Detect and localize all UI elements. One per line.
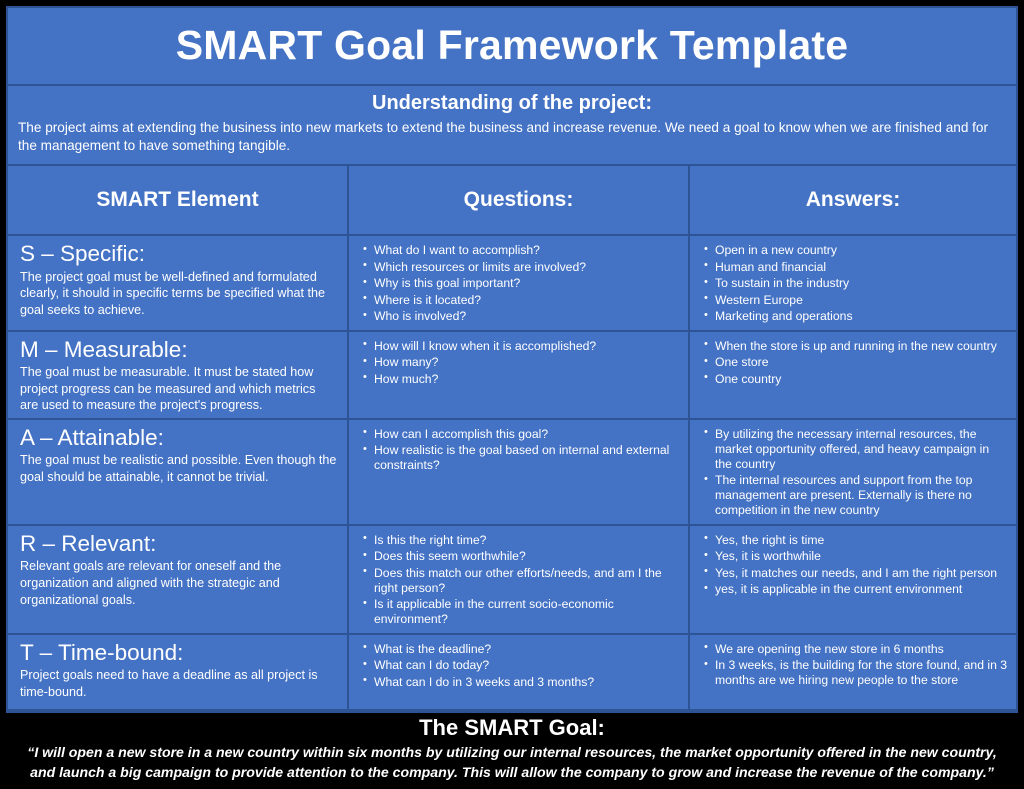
list-item: By utilizing the necessary internal reso… xyxy=(704,427,1008,472)
list-item: To sustain in the industry xyxy=(704,276,1008,291)
title-band: SMART Goal Framework Template xyxy=(8,8,1016,86)
list-item: How will I know when it is accomplished? xyxy=(363,339,680,354)
table-header-row: SMART Element Questions: Answers: xyxy=(8,166,1016,236)
list-item: Open in a new country xyxy=(704,243,1008,258)
understanding-title: Understanding of the project: xyxy=(18,91,1006,116)
list-item: One store xyxy=(704,355,1008,370)
answers-list-relevant: Yes, the right is timeYes, it is worthwh… xyxy=(690,526,1016,603)
element-heading-attainable: A – Attainable: xyxy=(20,425,337,452)
list-item: Yes, the right is time xyxy=(704,533,1008,548)
smart-goal-text: “I will open a new store in a new countr… xyxy=(17,743,1007,782)
understanding-body: The project aims at extending the busine… xyxy=(18,119,1006,156)
list-item: Yes, it is worthwhile xyxy=(704,549,1008,564)
answers-list-specific: Open in a new countryHuman and financial… xyxy=(690,236,1016,330)
element-description-timebound: Project goals need to have a deadline as… xyxy=(20,667,337,700)
questions-cell-attainable: How can I accomplish this goal?How reali… xyxy=(349,420,690,524)
column-header-element-label: SMART Element xyxy=(96,188,258,212)
table-row-measurable: M – Measurable: The goal must be measura… xyxy=(8,332,1016,420)
questions-cell-relevant: Is this the right time?Does this seem wo… xyxy=(349,526,690,633)
list-item: Where is it located? xyxy=(363,293,680,308)
column-header-answers-label: Answers: xyxy=(806,188,901,212)
list-item: We are opening the new store in 6 months xyxy=(704,642,1008,657)
element-description-attainable: The goal must be realistic and possible.… xyxy=(20,452,337,485)
element-heading-measurable: M – Measurable: xyxy=(20,337,337,364)
answers-cell-timebound: We are opening the new store in 6 months… xyxy=(690,635,1016,709)
questions-list-timebound: What is the deadline?What can I do today… xyxy=(349,635,688,696)
list-item: What do I want to accomplish? xyxy=(363,243,680,258)
list-item: Does this seem worthwhile? xyxy=(363,549,680,564)
answers-cell-relevant: Yes, the right is timeYes, it is worthwh… xyxy=(690,526,1016,633)
list-item: How realistic is the goal based on inter… xyxy=(363,443,680,473)
column-header-answers: Answers: xyxy=(690,166,1016,234)
table-row-relevant: R – Relevant: Relevant goals are relevan… xyxy=(8,526,1016,635)
questions-cell-specific: What do I want to accomplish?Which resou… xyxy=(349,236,690,330)
column-header-questions-label: Questions: xyxy=(464,188,574,212)
list-item: Who is involved? xyxy=(363,309,680,324)
element-cell-specific: S – Specific: The project goal must be w… xyxy=(8,236,349,330)
smart-table: SMART Element Questions: Answers: S – Sp… xyxy=(8,166,1016,709)
list-item: Western Europe xyxy=(704,293,1008,308)
list-item: In 3 weeks, is the building for the stor… xyxy=(704,658,1008,688)
list-item: How much? xyxy=(363,372,680,387)
answers-list-attainable: By utilizing the necessary internal reso… xyxy=(690,420,1016,524)
list-item: What can I do today? xyxy=(363,658,680,673)
answers-cell-measurable: When the store is up and running in the … xyxy=(690,332,1016,418)
answers-cell-specific: Open in a new countryHuman and financial… xyxy=(690,236,1016,330)
list-item: One country xyxy=(704,372,1008,387)
list-item: When the store is up and running in the … xyxy=(704,339,1008,354)
list-item: How many? xyxy=(363,355,680,370)
questions-list-attainable: How can I accomplish this goal?How reali… xyxy=(349,420,688,479)
list-item: Does this match our other efforts/needs,… xyxy=(363,566,680,596)
questions-cell-timebound: What is the deadline?What can I do today… xyxy=(349,635,690,709)
answers-list-measurable: When the store is up and running in the … xyxy=(690,332,1016,393)
table-row-attainable: A – Attainable: The goal must be realist… xyxy=(8,420,1016,526)
table-row-timebound: T – Time-bound: Project goals need to ha… xyxy=(8,635,1016,709)
list-item: The internal resources and support from … xyxy=(704,473,1008,518)
list-item: Marketing and operations xyxy=(704,309,1008,324)
element-heading-timebound: T – Time-bound: xyxy=(20,640,337,667)
element-cell-attainable: A – Attainable: The goal must be realist… xyxy=(8,420,349,524)
table-row-specific: S – Specific: The project goal must be w… xyxy=(8,236,1016,332)
element-cell-relevant: R – Relevant: Relevant goals are relevan… xyxy=(8,526,349,633)
questions-cell-measurable: How will I know when it is accomplished?… xyxy=(349,332,690,418)
smart-goal-section: The SMART Goal: “I will open a new store… xyxy=(8,709,1016,789)
list-item: Is this the right time? xyxy=(363,533,680,548)
element-cell-timebound: T – Time-bound: Project goals need to ha… xyxy=(8,635,349,709)
list-item: Which resources or limits are involved? xyxy=(363,260,680,275)
element-description-specific: The project goal must be well-defined an… xyxy=(20,269,337,319)
answers-cell-attainable: By utilizing the necessary internal reso… xyxy=(690,420,1016,524)
template-frame: SMART Goal Framework Template Understand… xyxy=(6,6,1018,713)
list-item: Why is this goal important? xyxy=(363,276,680,291)
list-item: What can I do in 3 weeks and 3 months? xyxy=(363,675,680,690)
understanding-section: Understanding of the project: The projec… xyxy=(8,86,1016,166)
list-item: Is it applicable in the current socio-ec… xyxy=(363,597,680,627)
column-header-element: SMART Element xyxy=(8,166,349,234)
answers-list-timebound: We are opening the new store in 6 months… xyxy=(690,635,1016,694)
questions-list-relevant: Is this the right time?Does this seem wo… xyxy=(349,526,688,633)
element-heading-specific: S – Specific: xyxy=(20,241,337,268)
list-item: Yes, it matches our needs, and I am the … xyxy=(704,566,1008,581)
column-header-questions: Questions: xyxy=(349,166,690,234)
list-item: What is the deadline? xyxy=(363,642,680,657)
questions-list-specific: What do I want to accomplish?Which resou… xyxy=(349,236,688,330)
element-description-relevant: Relevant goals are relevant for oneself … xyxy=(20,558,337,608)
list-item: How can I accomplish this goal? xyxy=(363,427,680,442)
list-item: Human and financial xyxy=(704,260,1008,275)
element-description-measurable: The goal must be measurable. It must be … xyxy=(20,364,337,414)
questions-list-measurable: How will I know when it is accomplished?… xyxy=(349,332,688,393)
page-title: SMART Goal Framework Template xyxy=(176,24,849,67)
element-heading-relevant: R – Relevant: xyxy=(20,531,337,558)
element-cell-measurable: M – Measurable: The goal must be measura… xyxy=(8,332,349,418)
list-item: yes, it is applicable in the current env… xyxy=(704,582,1008,597)
